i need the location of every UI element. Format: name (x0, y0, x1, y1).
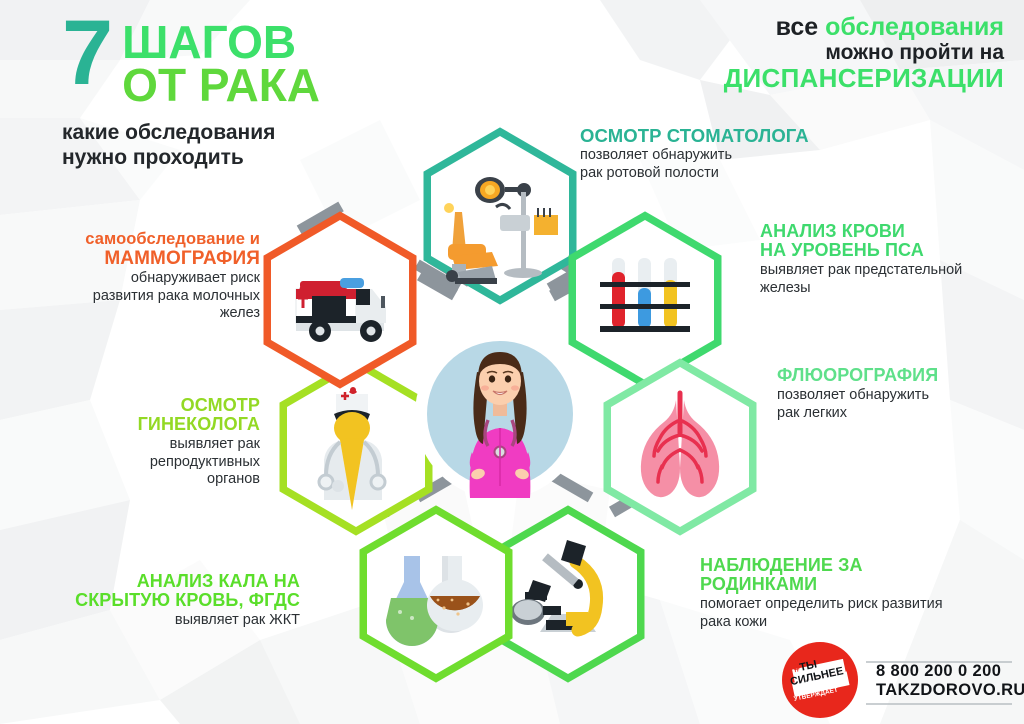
hexagon-gynecologist[interactable] (287, 367, 425, 527)
header-line1-green: обследования (825, 13, 1004, 41)
callout-gynecologist: ОСМОТР ГИНЕКОЛОГА выявляет рак репродукт… (30, 396, 260, 489)
phone-number[interactable]: 8 800 200 0 200 (876, 662, 1024, 681)
hexagon-moles[interactable] (499, 514, 637, 674)
title-number: 7 (62, 14, 110, 92)
callout-fluorography-body-1: позволяет обнаружить (777, 387, 1022, 405)
footer-contacts[interactable]: 8 800 200 0 200 TAKZDOROVO.RU (876, 662, 1024, 700)
subtitle-line-1: какие обследования (62, 120, 320, 145)
test-tubes-icon (600, 258, 690, 332)
subtitle-line-2: нужно проходить (62, 145, 320, 170)
callout-dentist-body-1: позволяет обнаружить (580, 147, 910, 165)
callout-moles-title-1: НАБЛЮДЕНИЕ ЗА (700, 556, 1024, 575)
callout-mammo-body-2: развития рака молочных (10, 288, 260, 306)
header-line3: ДИСПАНСЕРИЗАЦИИ (724, 64, 1004, 93)
callout-gyn-body-3: органов (30, 471, 260, 489)
callout-mammo-body-1: обнаруживает риск (10, 270, 260, 288)
hexagon-mammography[interactable] (271, 220, 409, 380)
header-line2: можно пройти на (724, 41, 1004, 64)
callout-gyn-title-2: ГИНЕКОЛОГА (30, 415, 260, 434)
hexagon-dentist[interactable] (431, 136, 569, 296)
callout-dentist: ОСМОТР СТОМАТОЛОГА позволяет обнаружить … (580, 126, 910, 182)
callout-mammo-title-1: самообследование и (10, 230, 260, 249)
callout-psa-body-2: железы (760, 280, 1022, 298)
website-url[interactable]: TAKZDOROVO.RU (876, 681, 1024, 700)
callout-dentist-title: ОСМОТР СТОМАТОЛОГА (580, 126, 910, 145)
callout-gyn-title-1: ОСМОТР (30, 396, 260, 415)
callout-psa-title-2: НА УРОВЕНЬ ПСА (760, 241, 1022, 260)
callout-mammo-body-3: желез (10, 305, 260, 323)
callout-moles-title-2: РОДИНКАМИ (700, 575, 1024, 594)
callout-moles-body-2: рака кожи (700, 614, 1024, 632)
callout-fluorography: ФЛЮОРОГРАФИЯ позволяет обнаружить рак ле… (777, 366, 1022, 422)
callout-psa-body-1: выявляет рак предстательной (760, 262, 1022, 280)
infographic-canvas: 7 ШАГОВ ОТ РАКА какие обследования нужно… (0, 0, 1024, 724)
callout-mammo-title-2: МАММОГРАФИЯ (10, 249, 260, 268)
callout-moles: НАБЛЮДЕНИЕ ЗА РОДИНКАМИ помогает определ… (700, 556, 1024, 631)
title-word-from-cancer: ОТ РАКА (122, 62, 320, 108)
callout-stool-body-1: выявляет рак ЖКТ (10, 612, 300, 630)
callout-fluorography-title: ФЛЮОРОГРАФИЯ (777, 366, 1022, 385)
callout-gyn-body-1: выявляет рак (30, 436, 260, 454)
header-banner: все обследования можно пройти на ДИСПАНС… (724, 14, 1004, 93)
center-doctor (415, 329, 585, 499)
page-title: 7 ШАГОВ ОТ РАКА какие обследования нужно… (62, 14, 320, 170)
callout-mammography: самообследование и МАММОГРАФИЯ обнаружив… (10, 230, 260, 323)
title-word-steps: ШАГОВ (122, 22, 320, 62)
hexagon-blood-test[interactable] (576, 220, 714, 380)
callout-gyn-body-2: репродуктивных (30, 454, 260, 472)
header-line1-dark: все (776, 13, 819, 41)
callout-moles-body-1: помогает определить риск развития (700, 596, 1024, 614)
callout-stool-title-2: СКРЫТУЮ КРОВЬ, ФГДС (10, 591, 300, 610)
callout-fluorography-body-2: рак легких (777, 405, 1022, 423)
callout-stool-test: АНАЛИЗ КАЛА НА СКРЫТУЮ КРОВЬ, ФГДС выявл… (10, 572, 300, 630)
callout-dentist-body-2: рак ротовой полости (580, 165, 910, 183)
callout-psa-title-1: АНАЛИЗ КРОВИ (760, 222, 1022, 241)
callout-psa: АНАЛИЗ КРОВИ НА УРОВЕНЬ ПСА выявляет рак… (760, 222, 1022, 297)
callout-stool-title-1: АНАЛИЗ КАЛА НА (10, 572, 300, 591)
hexagon-fluorography[interactable] (611, 367, 749, 527)
hexagon-stool-test[interactable] (367, 514, 505, 674)
